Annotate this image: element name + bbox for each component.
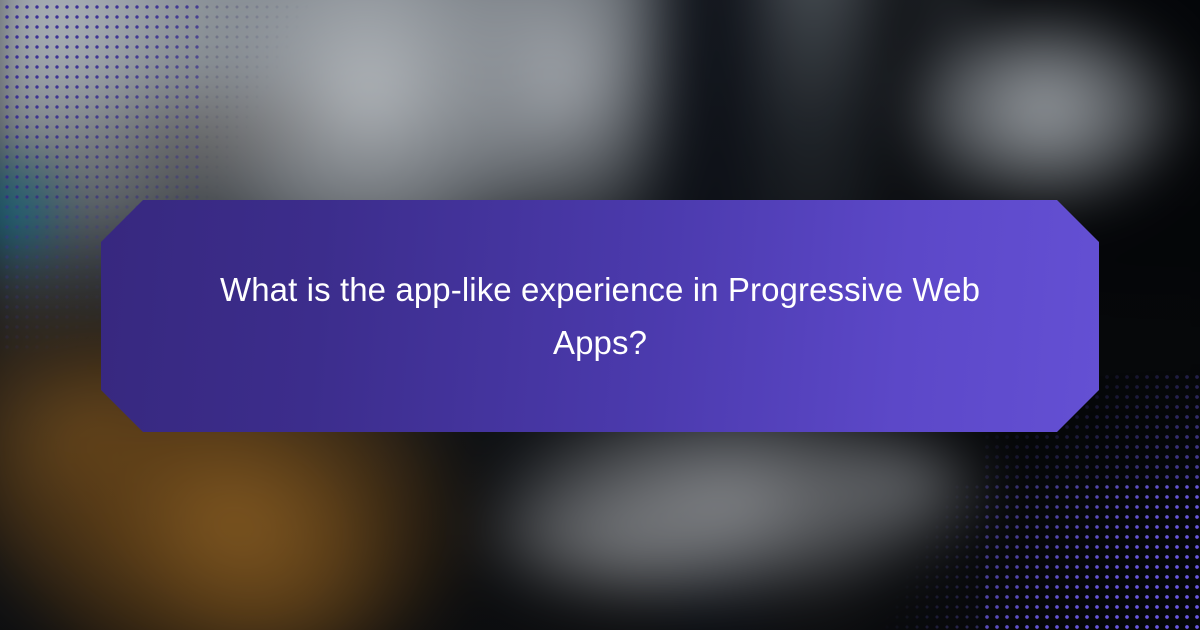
page-title: What is the app-like experience in Progr… (205, 263, 995, 370)
title-card: What is the app-like experience in Progr… (101, 200, 1099, 432)
share-card-canvas: What is the app-like experience in Progr… (0, 0, 1200, 630)
